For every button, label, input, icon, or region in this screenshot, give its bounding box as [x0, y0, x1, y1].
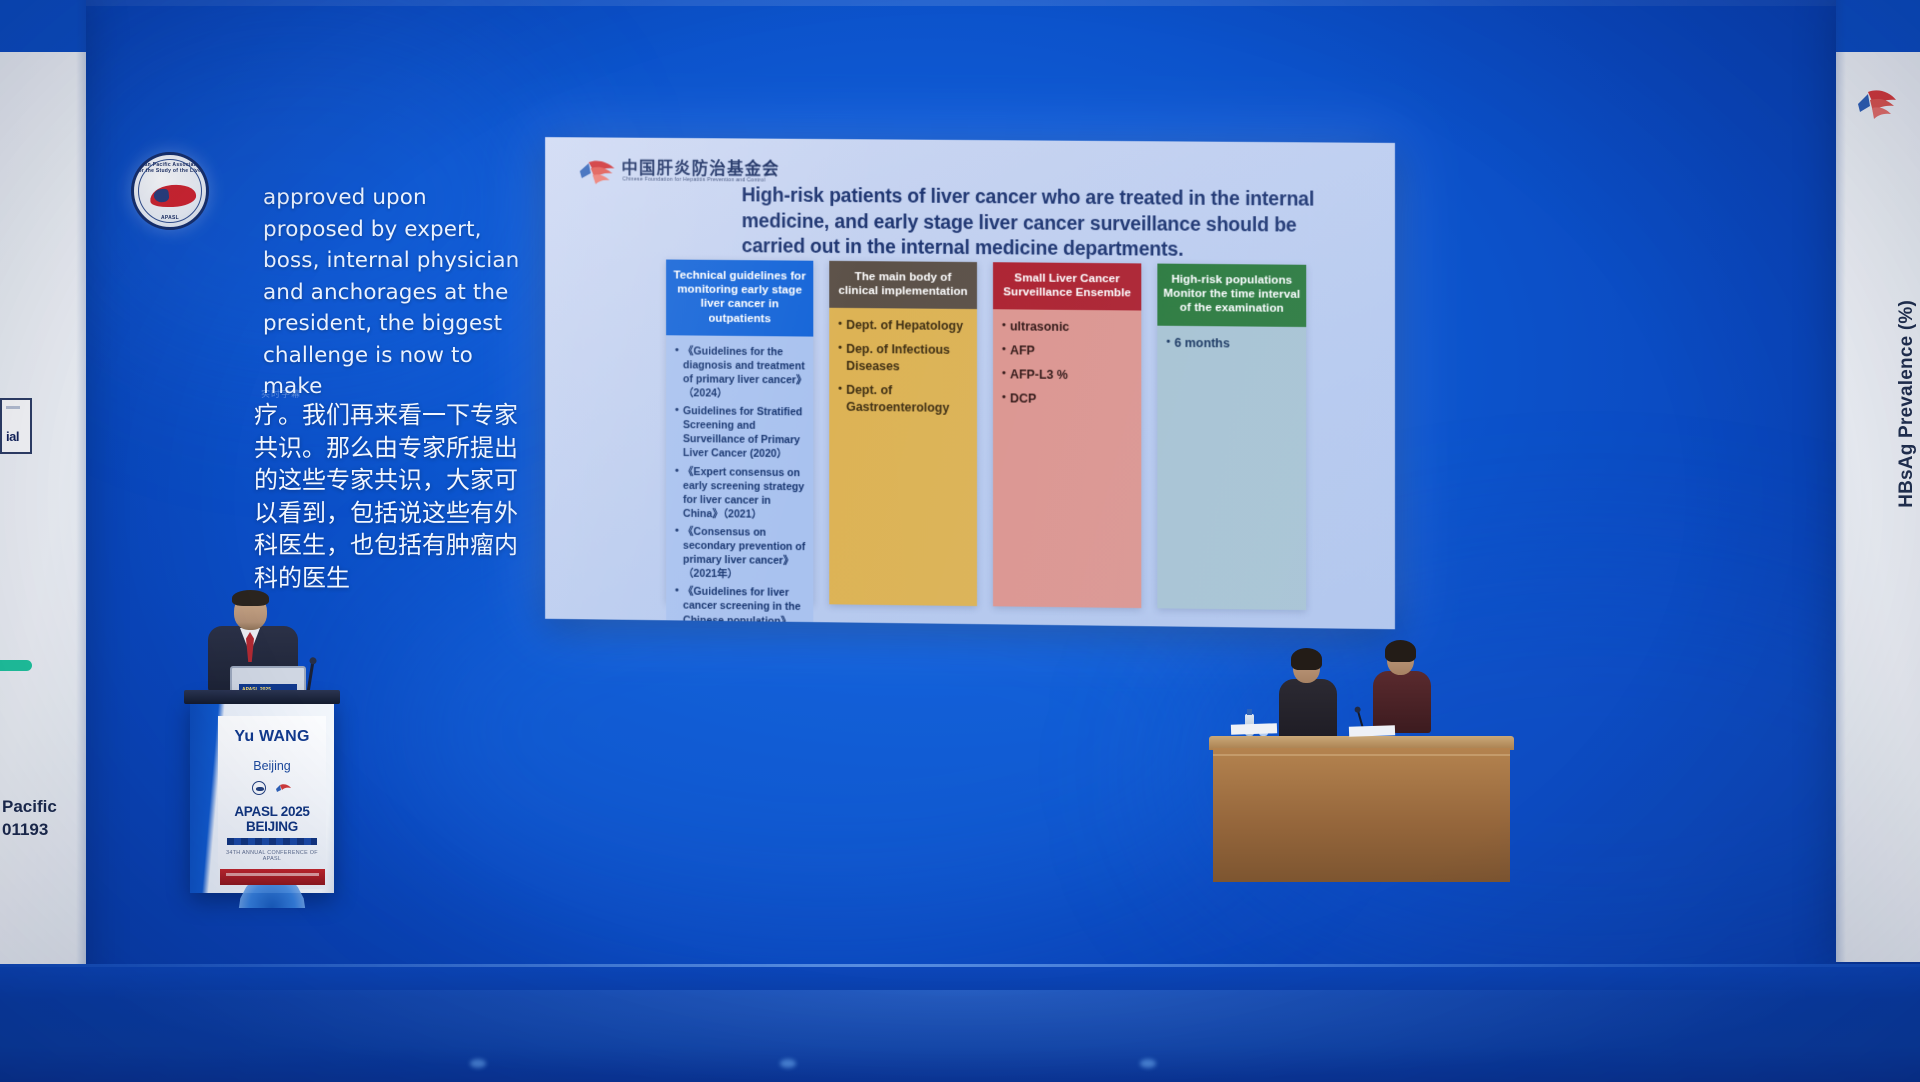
- speaker-city: Beijing: [218, 759, 326, 773]
- podium-badges: [218, 781, 326, 795]
- slide-column-surveillance-ensemble: Small Liver Cancer Surveillance Ensemble…: [993, 262, 1141, 608]
- slide-column-grid: Technical guidelines for monitoring earl…: [666, 260, 1306, 611]
- stage-floor-reflection: [115, 990, 1805, 1082]
- left-panel-mini-chart: ial: [0, 398, 32, 454]
- event-name-underbar: [227, 838, 318, 845]
- floor-light-spot: [1140, 1059, 1156, 1068]
- left-panel-line-1: Pacific: [0, 796, 86, 819]
- column-header: The main body of clinical implementation: [829, 261, 977, 310]
- column-body: 《Guidelines for the diagnosis and treatm…: [666, 335, 813, 629]
- podium: Yu WANG Beijing APASL 2025 BEIJING 34TH …: [190, 698, 334, 893]
- event-subtitle: 34TH ANNUAL CONFERENCE OF APASL: [218, 850, 326, 862]
- podium-top-rail: [184, 690, 340, 704]
- list-item: Dept. of Hepatology: [838, 317, 970, 335]
- foundation-badge-icon: [275, 782, 292, 794]
- podium-front-panel: Yu WANG Beijing APASL 2025 BEIJING 34TH …: [218, 716, 326, 889]
- papers-on-table: [1231, 723, 1277, 735]
- emblem-arc-top: Asian Pacific Association for the Study …: [134, 162, 206, 174]
- backdrop-top-edge: [0, 0, 1920, 6]
- panel-table-front: [1213, 748, 1510, 882]
- left-panel-line-2: 01193: [0, 819, 86, 842]
- column-header: High-risk populations Monitor the time i…: [1157, 264, 1306, 327]
- list-item: 《Guidelines for the diagnosis and treatm…: [675, 344, 806, 401]
- list-item: AFP: [1002, 343, 1134, 361]
- slide-column-monitor-interval: High-risk populations Monitor the time i…: [1157, 264, 1306, 611]
- speaker-at-podium: APASL 2025 Yu WANG Beijing APASL 2025 BE…: [182, 588, 342, 898]
- emblem-arc-bottom: APASL: [134, 215, 206, 221]
- list-item: 《Guidelines for liver cancer screening i…: [675, 585, 806, 629]
- slide-foundation-logo: 中国肝炎防治基金会 Chinese Foundation for Hepatit…: [578, 153, 757, 194]
- speaker-hair: [232, 590, 269, 606]
- left-panel-footer-text: Pacific 01193: [0, 796, 86, 842]
- papers-on-table: [1349, 725, 1395, 737]
- left-panel-top-band: [0, 0, 86, 52]
- slide-column-technical-guidelines: Technical guidelines for monitoring earl…: [666, 260, 813, 605]
- column-body: ultrasonic AFP AFP-L3 % DCP: [993, 310, 1141, 608]
- live-caption-english: approved upon proposed by expert, boss, …: [263, 182, 533, 403]
- list-item: Guidelines for Stratified Screening and …: [675, 404, 806, 462]
- speaker-name: Yu WANG: [218, 728, 326, 746]
- live-caption-chinese: 疗。我们再来看一下专家共识。那么由专家所提出的这些专家共识，大家可以看到，包括说…: [254, 399, 536, 594]
- podium-red-band: [220, 869, 325, 885]
- column-body: Dept. of Hepatology Dep. of Infectious D…: [829, 308, 977, 606]
- hepatitis-foundation-mark-icon: [578, 157, 618, 187]
- floor-light-spot: [470, 1059, 486, 1068]
- list-item: 《Expert consensus on early screening str…: [675, 464, 806, 522]
- list-item: 《Consensus on secondary prevention of pr…: [675, 525, 806, 583]
- left-wall-panel: ial Pacific 01193: [0, 0, 86, 1000]
- right-wall-panel: HBsAg Prevalence (%): [1836, 0, 1920, 962]
- hepatitis-foundation-mark-icon: [1854, 86, 1900, 126]
- floor-light-spot: [780, 1059, 796, 1068]
- slide-column-clinical-implementation: The main body of clinical implementation…: [829, 261, 977, 606]
- conference-stage-photo: ial Pacific 01193 HBsAg Prevalence (%) A…: [0, 0, 1920, 1082]
- panel-table-area: [1209, 636, 1514, 882]
- list-item: ultrasonic: [1002, 319, 1134, 337]
- apasl-badge-icon: [252, 781, 266, 795]
- event-name: APASL 2025 BEIJING: [218, 804, 326, 834]
- hbsag-prevalence-axis-label: HBsAg Prevalence (%): [1896, 300, 1918, 508]
- stage-floor: [0, 964, 1920, 1082]
- list-item: Dept. of Gastroenterology: [838, 382, 970, 417]
- list-item: DCP: [1002, 391, 1134, 409]
- slide-title: High-risk patients of liver cancer who a…: [742, 183, 1363, 264]
- list-item: Dep. of Infectious Diseases: [838, 341, 970, 376]
- left-panel-green-bar: [0, 660, 32, 671]
- column-body: 6 months: [1157, 325, 1306, 610]
- projected-slide: 中国肝炎防治基金会 Chinese Foundation for Hepatit…: [545, 137, 1395, 629]
- column-header: Small Liver Cancer Surveillance Ensemble: [993, 262, 1141, 311]
- list-item: AFP-L3 %: [1002, 367, 1134, 385]
- stage-floor-edge: [0, 964, 1920, 967]
- column-header: Technical guidelines for monitoring earl…: [666, 260, 813, 337]
- apasl-liver-emblem-icon: Asian Pacific Association for the Study …: [131, 152, 209, 230]
- list-item: 6 months: [1166, 334, 1299, 352]
- right-panel-top-band: [1836, 0, 1920, 52]
